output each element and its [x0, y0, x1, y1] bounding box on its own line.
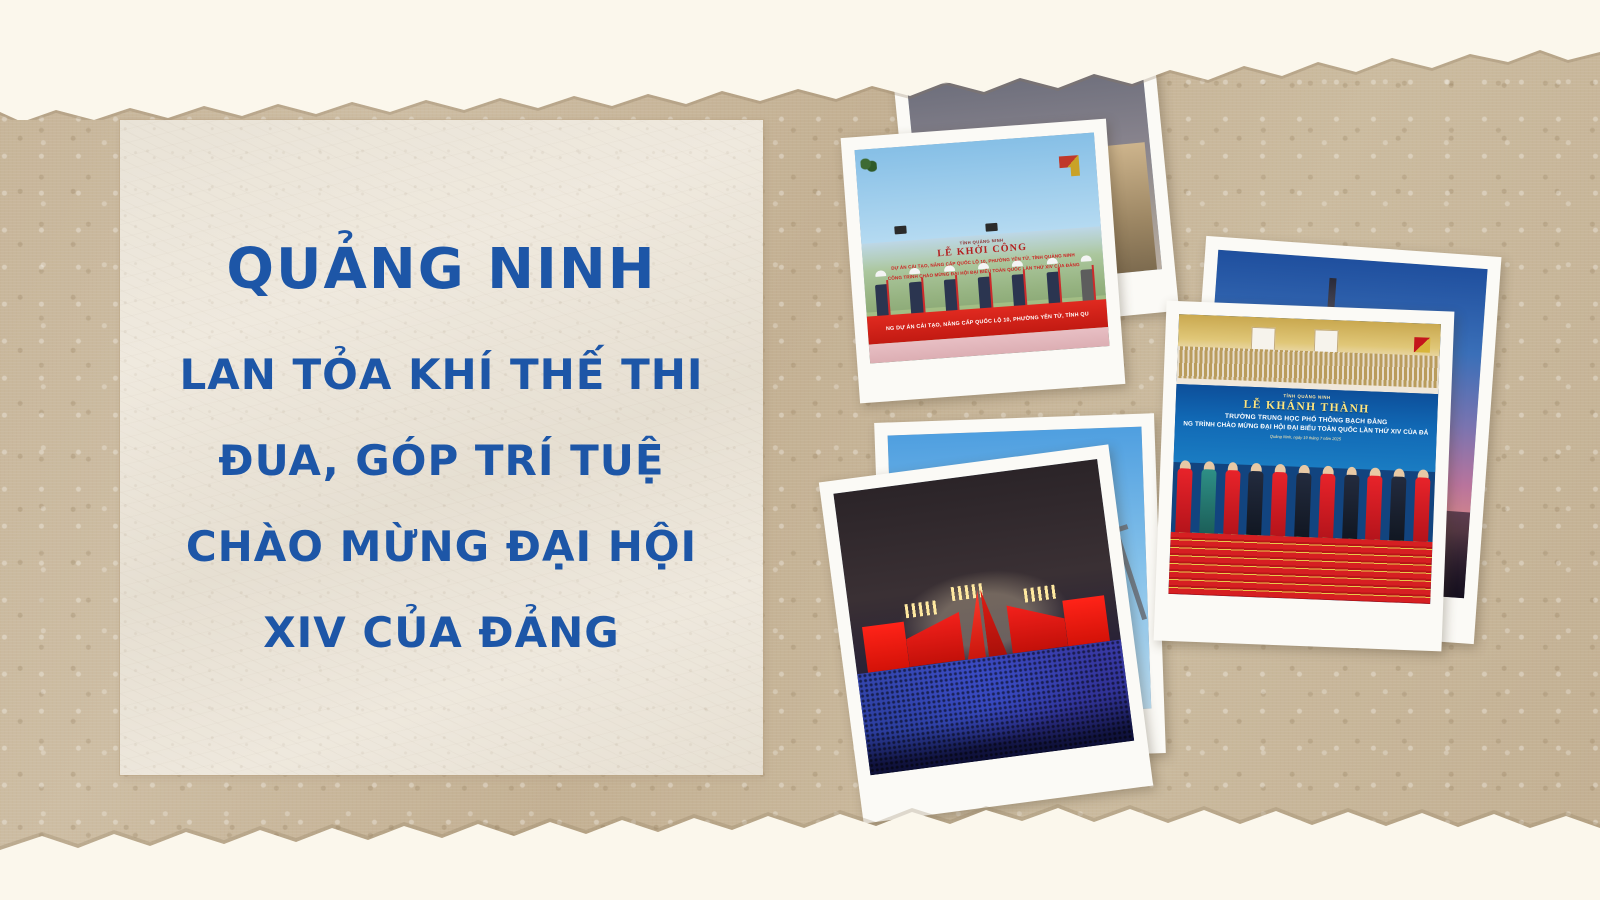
- banner-province: TỈNH QUẢNG NINH: [1283, 393, 1330, 400]
- photo-image: [833, 459, 1134, 775]
- poster-canvas: QUẢNG NINH LAN TỎA KHÍ THẾ THI ĐUA, GÓP …: [0, 0, 1600, 900]
- headline-line-1: QUẢNG NINH: [120, 242, 763, 298]
- ceremony-banner: TỈNH QUẢNG NINH LỄ KHÁNH THÀNH TRƯỜNG TR…: [1173, 384, 1438, 472]
- photo-le-khanh-thanh: TỈNH QUẢNG NINH LỄ KHÁNH THÀNH TRƯỜNG TR…: [1154, 301, 1455, 652]
- led-screen-right: [1062, 596, 1110, 647]
- headline-line-5: XIV CỦA ĐẢNG: [120, 612, 763, 654]
- banner-date: Quảng Ninh, ngày 19 tháng 7 năm 2025: [1270, 434, 1341, 442]
- school-building: [1176, 314, 1440, 394]
- red-carpet-steps: [1168, 532, 1432, 604]
- banner-title: LỄ KHÁNH THÀNH: [1243, 399, 1369, 416]
- lamp-icon: [985, 223, 998, 232]
- delegates-row: [1171, 460, 1436, 543]
- led-screen-left: [862, 622, 910, 673]
- photo-night-concert: [819, 444, 1153, 823]
- photo-image: TỈNH QUẢNG NINH LỄ KHỞI CÔNG DỰ ÁN CẢI T…: [855, 133, 1110, 364]
- headline-line-2: LAN TỎA KHÍ THẾ THI: [120, 354, 763, 396]
- leaf-decor: [860, 157, 877, 172]
- lamp-icon: [894, 226, 907, 235]
- headline-line-3: ĐUA, GÓP TRÍ TUỆ: [120, 440, 763, 482]
- photo-le-khoi-cong: TỈNH QUẢNG NINH LỄ KHỞI CÔNG DỰ ÁN CẢI T…: [841, 119, 1126, 404]
- headline-card: QUẢNG NINH LAN TỎA KHÍ THẾ THI ĐUA, GÓP …: [120, 120, 763, 775]
- photo-image: TỈNH QUẢNG NINH LỄ KHÁNH THÀNH TRƯỜNG TR…: [1168, 314, 1441, 604]
- balustrade-decor: [1177, 346, 1440, 388]
- party-flag-icon: [1413, 337, 1430, 353]
- ribbon-text: NG DỰ ÁN CẢI TẠO, NÂNG CẤP QUỐC LỘ 10, P…: [886, 311, 1089, 332]
- headline-line-4: CHÀO MỪNG ĐẠI HỘI: [120, 526, 763, 568]
